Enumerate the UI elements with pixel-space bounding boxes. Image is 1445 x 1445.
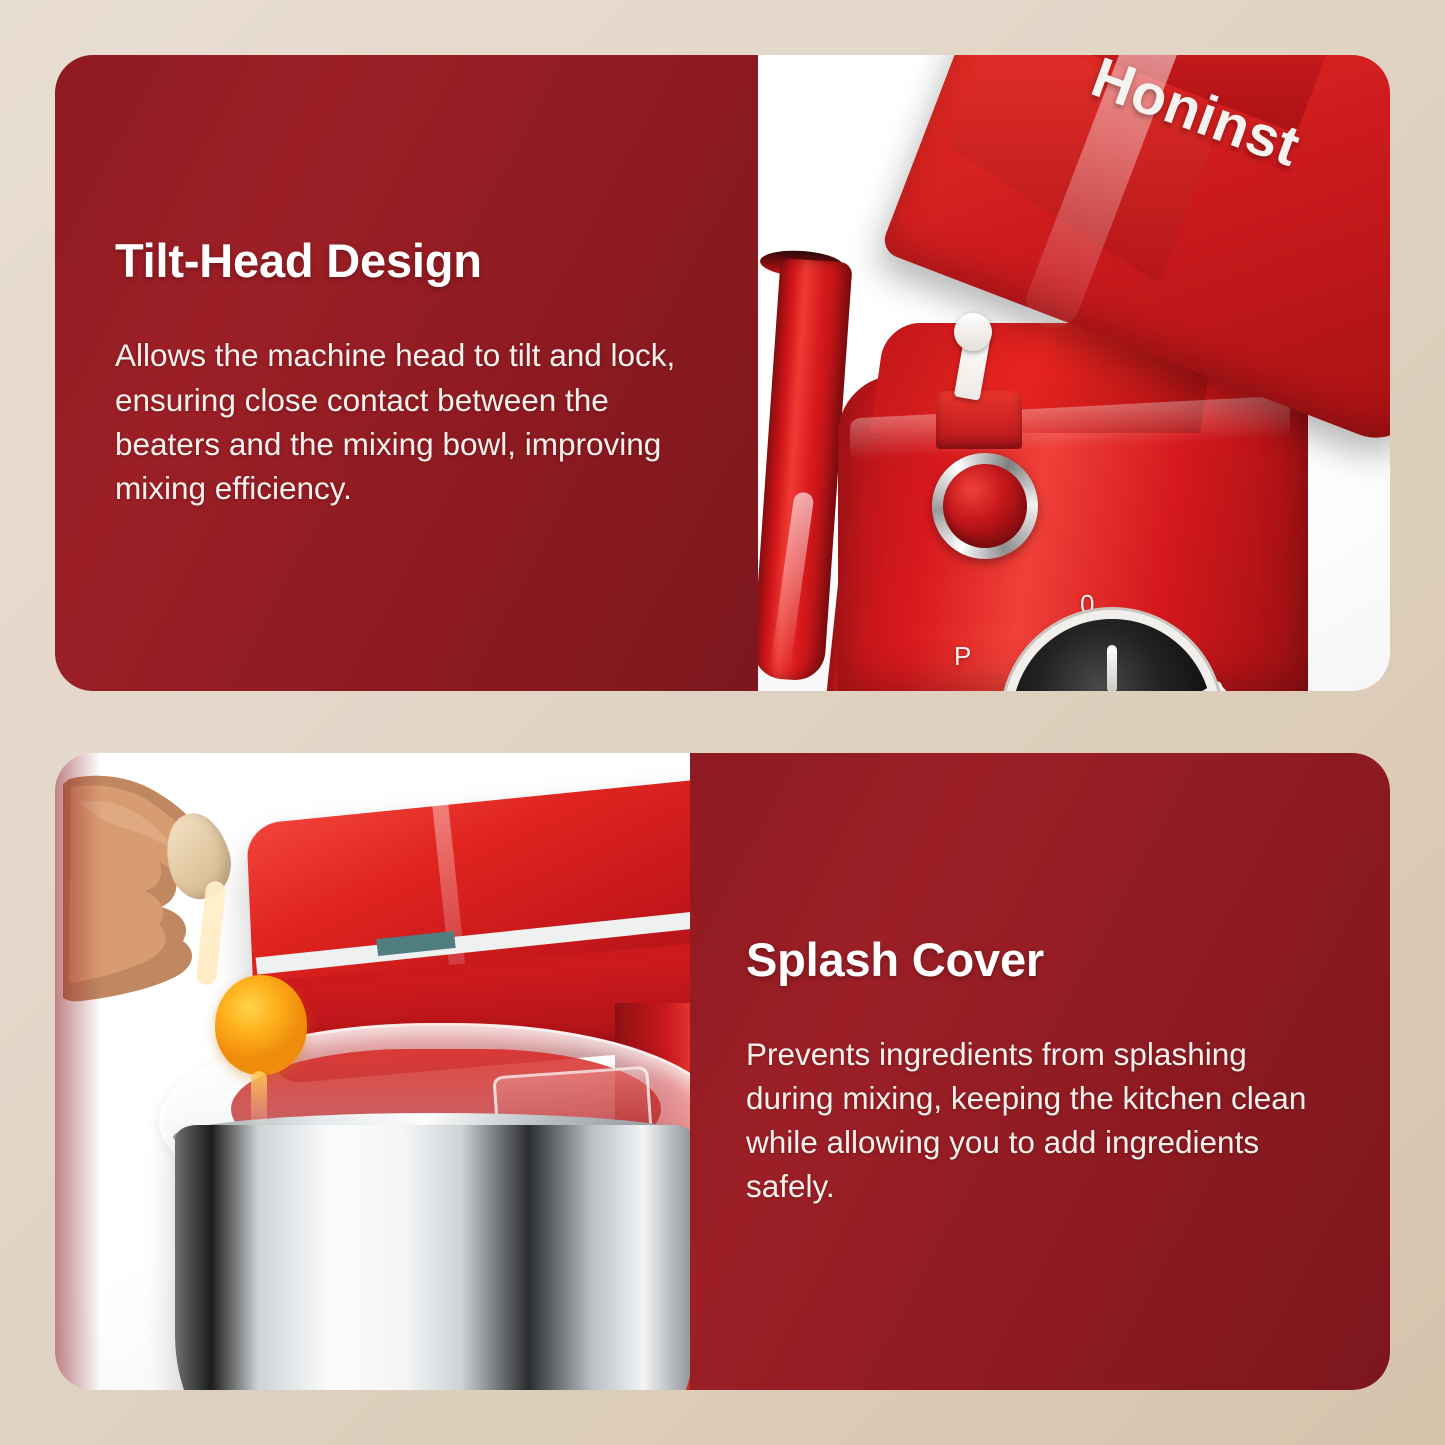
splash-cover-description: Prevents ingredients from splashing duri… xyxy=(746,1032,1340,1208)
egg-drip-icon xyxy=(251,1071,267,1125)
lock-latch-knob-icon xyxy=(954,313,992,351)
feature-panel-splash-cover: Splash Cover Prevents ingredients from s… xyxy=(55,753,1390,1390)
speed-dial-group[interactable]: P 0 1 2 xyxy=(954,593,1274,691)
dial-label-pulse: P xyxy=(954,641,971,672)
page-title: Tilt-Head Design xyxy=(115,236,700,285)
power-button-icon[interactable] xyxy=(932,453,1038,559)
spout-highlight-icon xyxy=(770,491,815,672)
infographic-canvas: Tilt-Head Design Allows the machine head… xyxy=(0,0,1445,1445)
splash-cover-text-pane: Splash Cover Prevents ingredients from s… xyxy=(690,753,1390,1390)
tilt-head-description: Allows the machine head to tilt and lock… xyxy=(115,333,700,509)
stainless-bowl-icon xyxy=(175,1125,690,1390)
tilt-head-text-pane: Tilt-Head Design Allows the machine head… xyxy=(55,55,758,691)
dial-label-off: 0 xyxy=(1080,589,1094,620)
lock-latch-base-icon xyxy=(936,391,1022,449)
splash-cover-product-photo xyxy=(55,753,690,1390)
dial-pointer-icon xyxy=(1107,645,1117,691)
tilt-head-product-photo: Honinst P 0 1 2 xyxy=(758,55,1390,691)
feature-panel-tilt-head: Tilt-Head Design Allows the machine head… xyxy=(55,55,1390,691)
page-title: Splash Cover xyxy=(746,935,1340,984)
dial-label-speed-2: 2 xyxy=(1218,687,1232,691)
egg-yolk-icon xyxy=(215,975,307,1075)
